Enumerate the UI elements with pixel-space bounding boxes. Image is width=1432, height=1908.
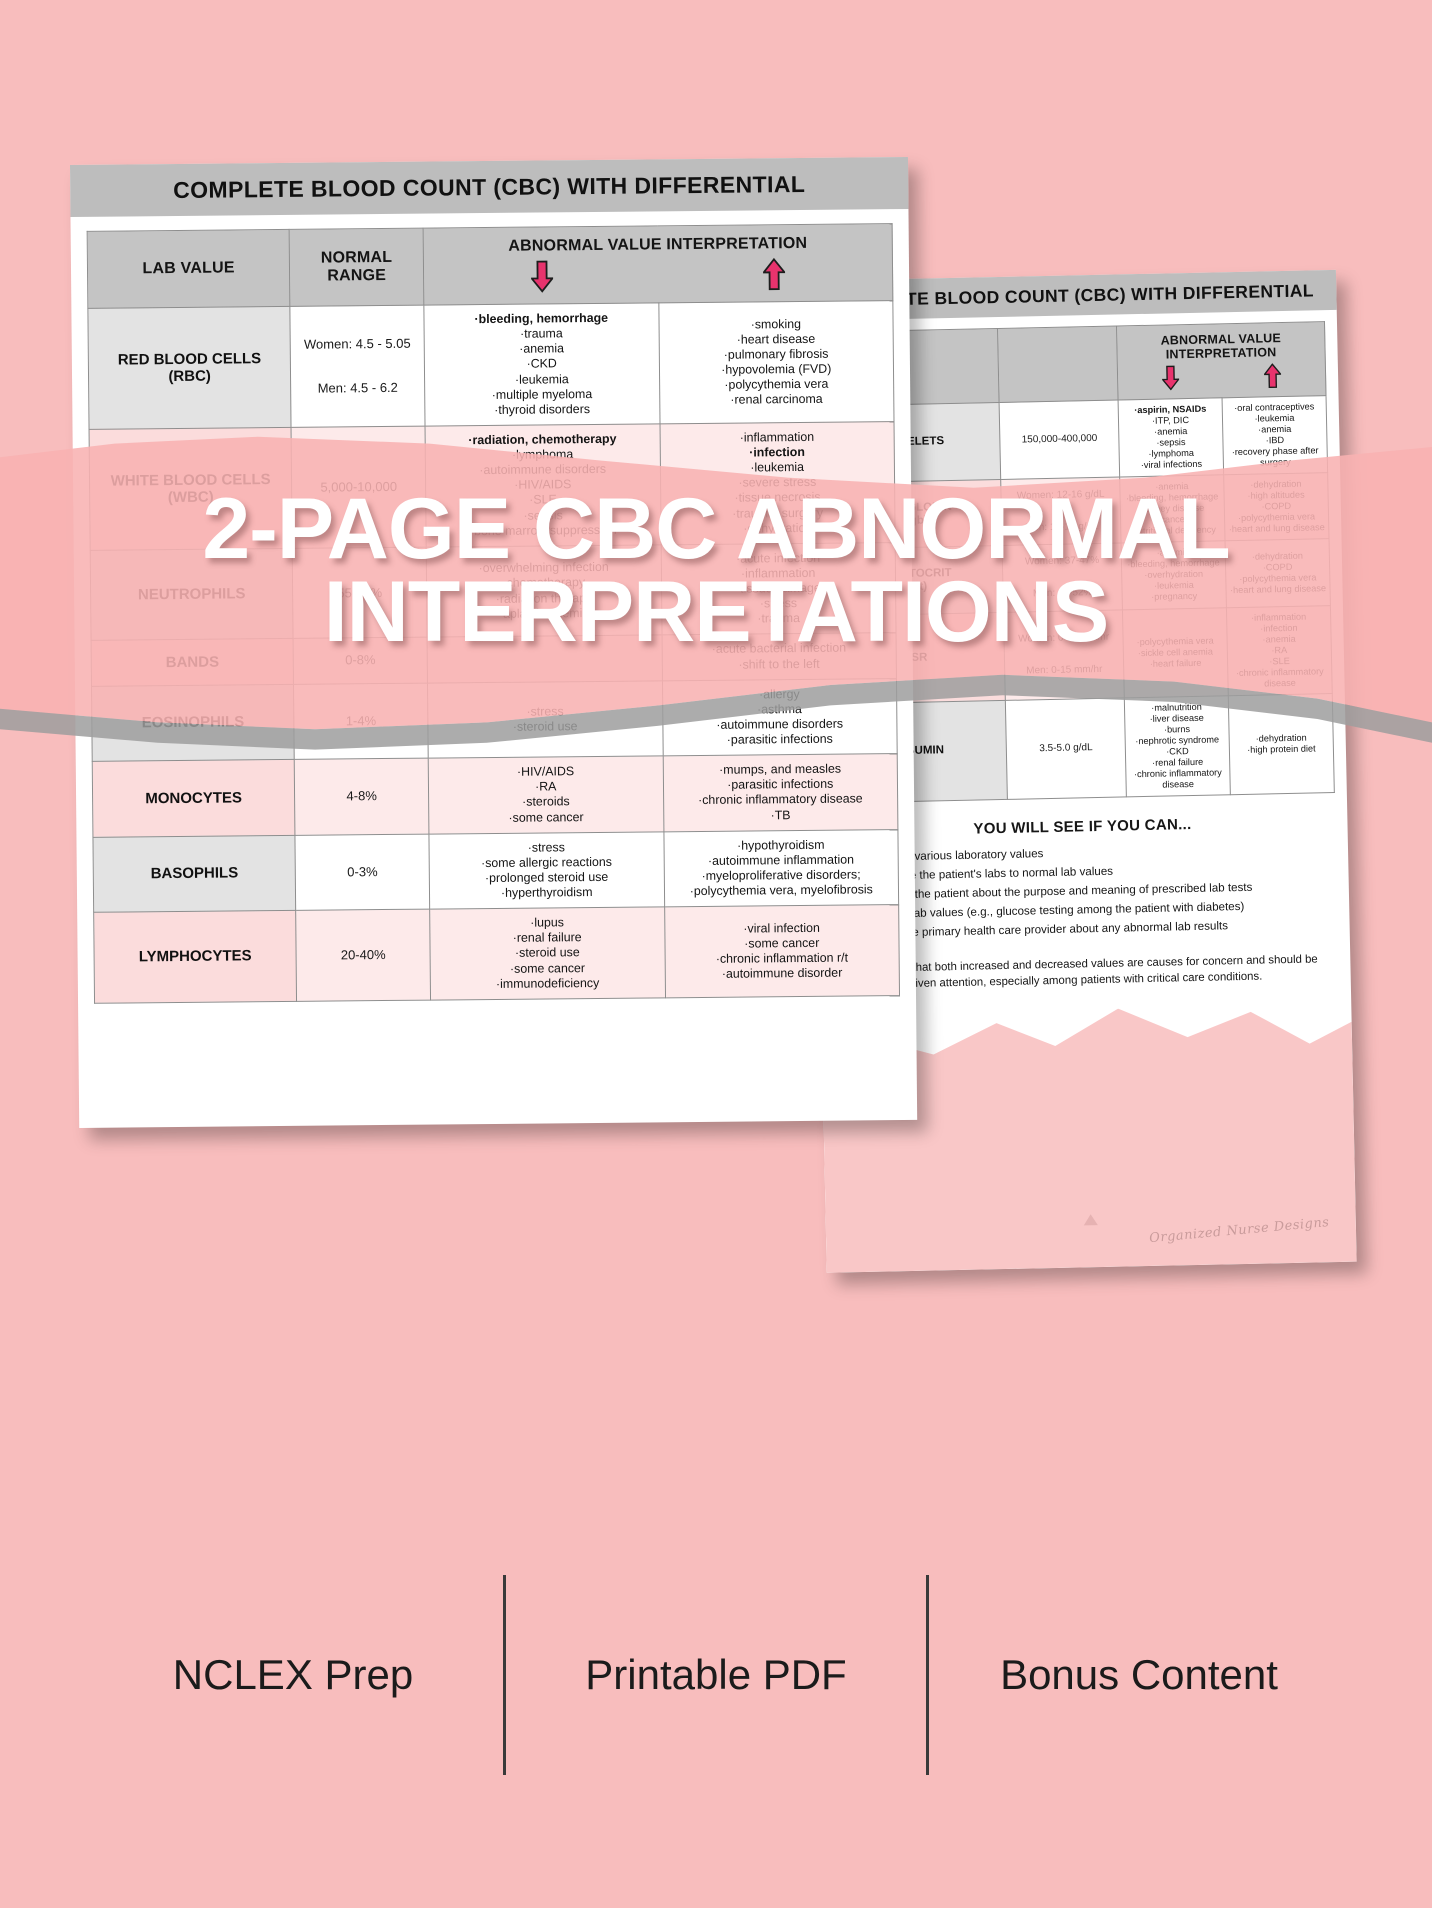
up-arrow-icon	[763, 257, 785, 291]
hero-line-1: 2-PAGE CBC ABNORMAL	[202, 481, 1229, 577]
page1-col-lab-value: LAB VALUE	[87, 229, 290, 308]
increased-causes-cell: ·oral contraceptives·leukemia·anemia·IBD…	[1222, 396, 1328, 475]
normal-range-cell: Women: 4.5 - 5.05Men: 4.5 - 6.2	[290, 305, 425, 427]
page1-up-arrow-cell	[658, 252, 890, 292]
decreased-causes-cell: ·bleeding, hemorrhage·trauma·anemia·CKD·…	[424, 303, 660, 426]
feature-label: Printable PDF	[506, 1651, 926, 1699]
page1-arrow-row	[426, 252, 890, 294]
normal-range-cell: 4-8%	[294, 758, 429, 835]
hero-line-2: INTERPRETATIONS	[0, 571, 1432, 654]
triangle-accent-icon	[1084, 1214, 1098, 1225]
lab-value-cell: EOSINOPHILS	[92, 684, 295, 761]
decreased-causes-cell: ·HIV/AIDS·RA·steroids·some cancer	[428, 756, 663, 834]
feature-label: NCLEX Prep	[83, 1651, 503, 1699]
page1-col-interpretation: ABNORMAL VALUE INTERPRETATION	[423, 224, 893, 305]
page2-up-arrow-cell	[1221, 358, 1323, 389]
feature-label: Bonus Content	[929, 1651, 1349, 1699]
table-row: MONOCYTES4-8%·HIV/AIDS·RA·steroids·some …	[92, 754, 898, 837]
normal-range-cell: 150,000-400,000	[999, 400, 1119, 480]
page2-col-interpretation: ABNORMAL VALUE INTERPRETATION	[1117, 322, 1327, 400]
info-heading: YOU WILL SEE IF YOU CAN...	[843, 813, 1321, 840]
info-note: Remember that both increased and decreas…	[846, 951, 1325, 994]
decreased-causes-cell: ·malnutrition·liver disease·burns·nephro…	[1124, 695, 1230, 796]
page2-down-arrow-cell	[1120, 360, 1222, 391]
page1-document-title: COMPLETE BLOOD COUNT (CBC) WITH DIFFEREN…	[70, 157, 908, 217]
table-row: LYMPHOCYTES20-40%·lupus·renal failure·st…	[94, 905, 900, 1003]
hero-title: 2-PAGE CBC ABNORMAL INTERPRETATIONS	[0, 488, 1432, 653]
increased-causes-cell: ·hypothyroidism·autoimmune inflammation·…	[663, 829, 898, 907]
down-arrow-icon	[1162, 365, 1180, 390]
page2-col-normal-range	[998, 326, 1118, 402]
lab-value-cell: MONOCYTES	[92, 759, 295, 836]
up-arrow-icon	[1264, 363, 1282, 388]
page1-col-normal-range: NORMAL RANGE	[289, 228, 424, 306]
page2-interpretation-label: ABNORMAL VALUE INTERPRETATION	[1119, 330, 1323, 362]
decreased-causes-cell: ·lupus·renal failure·steroid use·some ca…	[430, 907, 665, 1000]
normal-range-cell: 20-40%	[296, 909, 431, 1001]
normal-range-cell: 1-4%	[294, 683, 429, 760]
normal-range-cell: 0-3%	[295, 834, 430, 911]
table-row: RED BLOOD CELLS(RBC)Women: 4.5 - 5.05Men…	[88, 301, 894, 430]
decreased-causes-cell: ·aspirin, NSAIDs·ITP, DIC·anemia·sepsis·…	[1118, 398, 1224, 477]
increased-causes-cell: ·viral infection·some cancer·chronic inf…	[664, 905, 899, 998]
info-list: Interpret various laboratory valuesCompa…	[844, 839, 1324, 943]
decreased-causes-cell: ·stress·some allergic reactions·prolonge…	[429, 831, 664, 909]
table-row: BASOPHILS0-3%·stress·some allergic react…	[93, 829, 899, 912]
lab-value-cell: LYMPHOCYTES	[94, 910, 297, 1003]
lab-value-cell: RED BLOOD CELLS(RBC)	[88, 306, 291, 429]
increased-causes-cell: ·mumps, and measles·parasitic infections…	[663, 754, 898, 832]
page2-arrow-row	[1120, 358, 1324, 391]
lab-value-cell: BASOPHILS	[93, 835, 296, 912]
increased-causes-cell: ·allergy·asthma·autoimmune disorders·par…	[662, 678, 897, 756]
page1-down-arrow-cell	[426, 254, 658, 294]
table-row: EOSINOPHILS1-4%·stress·steroid use·aller…	[92, 678, 898, 761]
down-arrow-icon	[531, 259, 553, 293]
feature-bar: NCLEX PrepPrintable PDFBonus Content	[0, 1560, 1432, 1790]
normal-range-cell: 3.5-5.0 g/dL	[1006, 698, 1127, 800]
decreased-causes-cell: ·stress·steroid use	[428, 680, 663, 758]
increased-causes-cell: ·dehydration·high protein diet	[1228, 693, 1334, 794]
increased-causes-cell: ·smoking·heart disease·pulmonary fibrosi…	[658, 301, 894, 424]
